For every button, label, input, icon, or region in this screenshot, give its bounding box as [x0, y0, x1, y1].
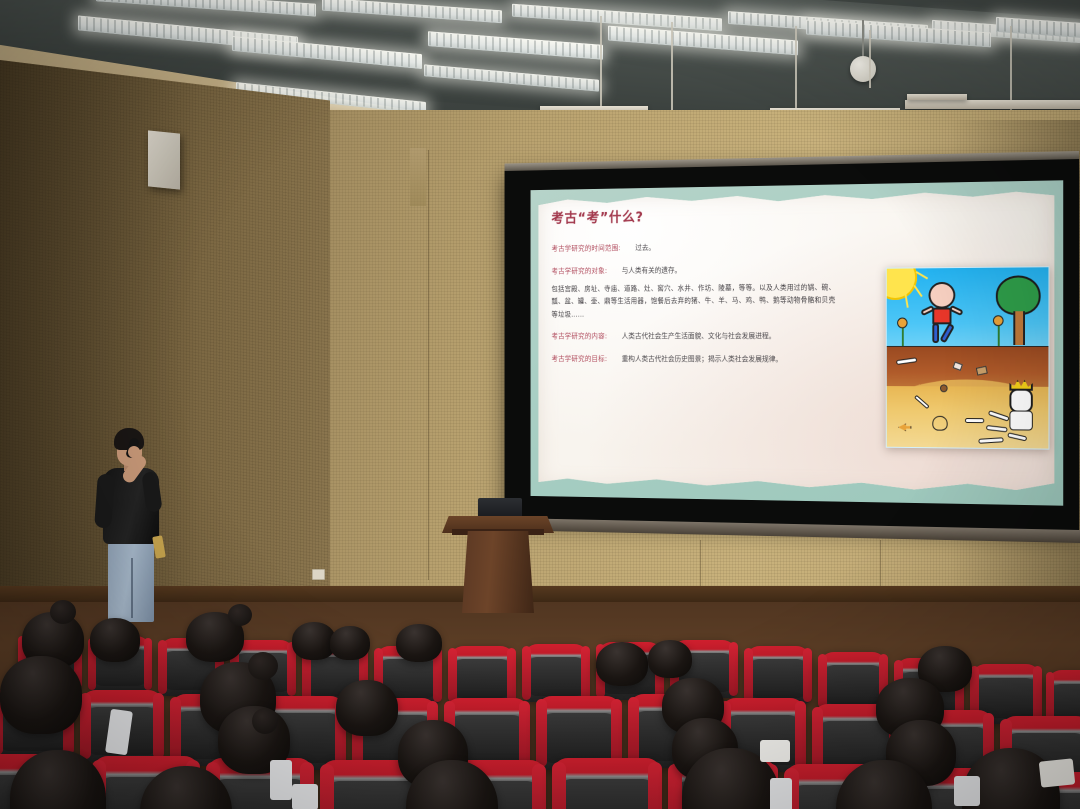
flower-icon	[993, 315, 1004, 326]
slide-row-value: 人类古代社会生产生活面貌、文化与社会发展进程。	[622, 331, 776, 340]
seat-armrest	[803, 648, 812, 701]
ceiling-speaker	[850, 56, 876, 82]
seat-armrest	[628, 697, 639, 765]
student-collar	[954, 776, 980, 806]
audience-head	[596, 642, 648, 686]
archaeology-cartoon-image	[886, 266, 1050, 449]
auditorium-scene: 考古“考”什么? 考古学研究的时间范围: 过去。 考古学研究的对象: 与人类有关…	[0, 0, 1080, 809]
ceiling-light-panel	[232, 36, 422, 69]
slide-row-label: 考古学研究的对象:	[551, 266, 607, 275]
pendant-wire	[671, 22, 673, 118]
slide-title: 考古“考”什么?	[551, 201, 1041, 228]
seat[interactable]	[522, 644, 590, 702]
projection-screen[interactable]: 考古“考”什么? 考古学研究的时间范围: 过去。 考古学研究的对象: 与人类有关…	[505, 158, 1079, 530]
seat-armrest	[552, 762, 566, 809]
audience-head	[330, 626, 370, 660]
child-leg-left	[932, 323, 939, 343]
seat-armrest	[1033, 666, 1042, 721]
ceiling-light-panel	[96, 0, 316, 17]
wall-speaker	[148, 130, 180, 189]
student-collar	[270, 760, 292, 800]
seat-armrest	[170, 697, 181, 763]
seat[interactable]	[744, 646, 812, 704]
tree-trunk	[1013, 311, 1025, 345]
audience-head	[90, 618, 140, 662]
slide-row-value: 过去。	[635, 243, 655, 252]
seat-armrest	[153, 693, 164, 759]
pendant-light	[907, 94, 967, 100]
audience-hair-bun	[228, 604, 252, 626]
pottery-shard	[940, 384, 948, 392]
seat-armrest	[507, 648, 516, 701]
student-notes	[760, 740, 790, 762]
student-collar	[770, 778, 792, 809]
slide-row: 考古学研究的对象: 与人类有关的遗存。	[551, 264, 850, 276]
audience-head	[336, 680, 398, 736]
slide-row: 考古学研究的时间范围: 过去。	[551, 241, 850, 254]
pottery-vessel-icon	[932, 416, 947, 431]
ceiling-light-panel	[322, 0, 502, 23]
audience-hair-bun	[252, 708, 278, 734]
bone-icon	[965, 418, 984, 423]
student-notes	[1039, 758, 1076, 787]
seat-armrest	[611, 699, 622, 767]
flower-icon	[897, 318, 907, 329]
audience-hair-bun	[50, 600, 76, 624]
pendant-wire	[600, 16, 602, 110]
audience-head	[0, 656, 82, 734]
seat-armrest	[158, 640, 167, 693]
flower-stem	[998, 323, 1000, 347]
slide-body: 考古学研究的时间范围: 过去。 考古学研究的对象: 与人类有关的遗存。 包括宫殿…	[551, 241, 850, 365]
slide-row-value: 重构人类古代社会历史图景；揭示人类社会发展规律。	[622, 354, 783, 363]
wall-panel-seam	[428, 150, 429, 580]
slide-row-value: 与人类有关的遗存。	[622, 266, 682, 275]
slide-content: 考古“考”什么? 考古学研究的时间范围: 过去。 考古学研究的对象: 与人类有关…	[531, 180, 1064, 505]
ceiling-light-panel	[424, 64, 599, 91]
speaker-cable	[862, 20, 864, 60]
seat-armrest	[536, 699, 547, 767]
seat-armrest	[729, 642, 738, 695]
seat-armrest	[144, 638, 152, 690]
seat-armrest	[448, 648, 457, 701]
audience-hair-bun	[248, 652, 278, 680]
seat-armrest	[581, 646, 590, 699]
pendant-wire	[869, 30, 871, 88]
slide-row-label: 考古学研究的目标:	[551, 354, 607, 363]
child-torso	[932, 308, 951, 325]
seat-armrest	[795, 701, 806, 769]
slide-row-label: 考古学研究的内容:	[551, 332, 607, 341]
seat[interactable]	[448, 646, 516, 704]
seat-armrest	[519, 701, 530, 769]
audience-head	[396, 624, 442, 662]
ceiling-light-panel	[428, 31, 603, 60]
slide-row: 考古学研究的内容: 人类古代社会生产生活面貌、文化与社会发展进程。	[551, 331, 850, 341]
tree-foliage	[996, 275, 1041, 315]
audience-head	[648, 640, 692, 678]
seat-armrest	[522, 646, 531, 699]
skeleton-skull	[1009, 389, 1032, 413]
seat-armrest	[818, 654, 827, 707]
seat-armrest	[320, 764, 334, 809]
seat[interactable]	[552, 758, 662, 809]
wall-vent	[410, 148, 426, 206]
presenter-pocket-item	[152, 535, 166, 558]
presenter-hand	[128, 446, 140, 458]
pendant-light	[905, 100, 1080, 109]
flower-stem	[902, 325, 904, 347]
seat-armrest	[532, 764, 546, 809]
audience-seating	[0, 560, 1080, 809]
slide-row: 考古学研究的目标: 重构人类古代社会历史图景；揭示人类社会发展规律。	[551, 354, 850, 364]
seat-armrest	[648, 762, 662, 809]
slide-paragraph: 包括宫殿、房址、寺庙、道路、灶、窖穴、水井、作坊、陵墓，等等。以及人类用过的锅、…	[551, 281, 836, 321]
child-head	[929, 282, 956, 309]
presentation-slide: 考古“考”什么? 考古学研究的时间范围: 过去。 考古学研究的对象: 与人类有关…	[531, 180, 1064, 505]
student-collar	[292, 784, 318, 809]
seat-armrest	[744, 648, 753, 701]
skeleton-ribcage	[1009, 410, 1032, 430]
slide-row-label: 考古学研究的时间范围:	[551, 243, 620, 252]
